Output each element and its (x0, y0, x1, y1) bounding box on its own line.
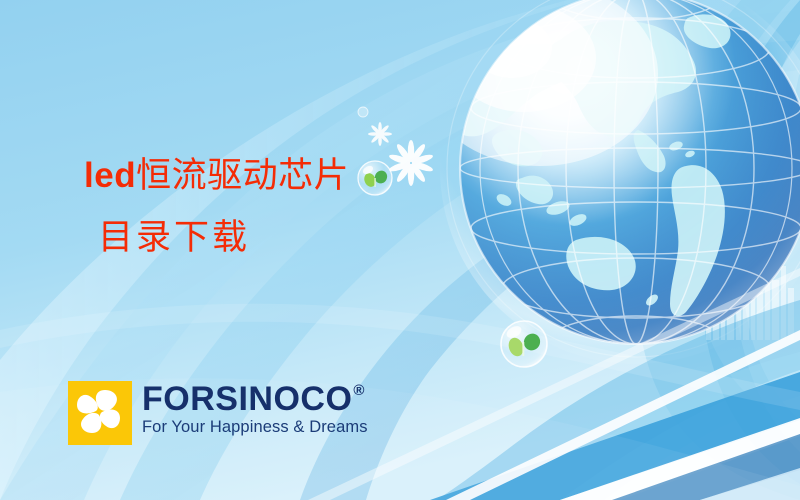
headline-latin: led (84, 156, 136, 195)
company-logo: FORSINOCO ® For Your Happiness & Dreams (68, 381, 368, 445)
bubble-leaf-large (501, 321, 547, 367)
logo-text-block: FORSINOCO ® For Your Happiness & Dreams (142, 381, 368, 436)
headline-line-1: led恒流驱动芯片 (84, 158, 349, 193)
logo-wordmark-row: FORSINOCO ® (142, 381, 368, 417)
bubble-leaf-small (358, 161, 392, 195)
bubble-tiny (358, 107, 368, 117)
headline-line-2: 目录下载 (98, 220, 349, 255)
logo-wordmark: FORSINOCO (142, 381, 352, 417)
logo-mark (68, 381, 132, 445)
logo-tagline: For Your Happiness & Dreams (142, 418, 368, 436)
banner-canvas: led恒流驱动芯片 目录下载 FORSINOCO ® For Your Happ… (0, 0, 800, 500)
headline-cjk: 恒流驱动芯片 (136, 156, 349, 195)
sparkle-starburst-small (368, 122, 392, 146)
four-petal-flower-icon (68, 381, 132, 445)
registered-trademark-icon: ® (353, 383, 365, 398)
headline-text: led恒流驱动芯片 目录下载 (84, 158, 349, 255)
